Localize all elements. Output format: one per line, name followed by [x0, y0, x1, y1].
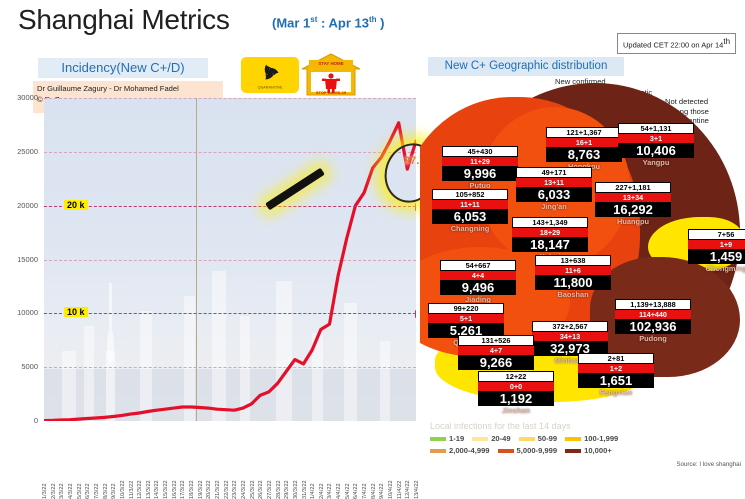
x-axis-tick: 23/3/22 [232, 480, 238, 499]
district-not-quarantined: 16+1 [546, 138, 622, 147]
district-not-quarantined: 11+29 [442, 157, 518, 166]
district-new-cases: 1,139+13,888 [615, 299, 691, 310]
x-axis-tick: 11/3/22 [129, 481, 135, 499]
x-axis-tick: 18/3/22 [189, 480, 195, 499]
x-axis-tick: 26/3/22 [258, 480, 264, 499]
x-axis-tick: 20/3/22 [206, 480, 212, 499]
x-axis-tick: 28/3/22 [276, 480, 282, 499]
legend-swatch [430, 437, 446, 441]
legend-item: 2,000-4,999 [430, 446, 490, 455]
district-total-14d: 9,266 [458, 355, 534, 370]
district-name: Huangpu [595, 217, 671, 226]
district-new-cases: 105+852 [432, 189, 508, 200]
district-new-cases: 121+1,367 [546, 127, 622, 138]
updated-timestamp: Updated CET 22:00 on Apr 14th [617, 33, 736, 54]
district-total-14d: 8,763 [546, 147, 622, 162]
district-not-quarantined: 13+34 [595, 193, 671, 202]
district-not-quarantined: 3+1 [618, 134, 694, 143]
district-new-cases: 227+1,181 [595, 182, 671, 193]
legend-swatch [430, 449, 446, 453]
district-total-14d: 6,033 [516, 187, 592, 202]
x-axis-tick: 9/3/22 [111, 483, 117, 499]
x-axis-tick: 12/3/22 [137, 480, 143, 499]
legend-label: 1-19 [449, 434, 464, 443]
district-not-quarantined: 1+9 [688, 240, 745, 249]
district-new-cases: 99+220 [428, 303, 504, 314]
incidence-line [44, 98, 416, 421]
legend-label: 10,000+ [584, 446, 612, 455]
district-new-cases: 13+638 [535, 255, 611, 266]
x-axis-tick: 21/3/22 [215, 480, 221, 499]
y-axis-tick: 5000 [0, 362, 38, 371]
district-not-quarantined: 1+2 [578, 364, 654, 373]
district-name: Fengxian [578, 388, 654, 397]
district-not-quarantined: 4+7 [458, 346, 534, 355]
district-stat-box: 7+561+91,459Chongming [688, 229, 745, 273]
threshold-arrow-icon [415, 310, 416, 318]
stay-home-bottom-caption: STOP COVID-19 [316, 90, 347, 95]
legend-label: 2,000-4,999 [449, 446, 490, 455]
biohazard-icon: QUARANTINE [241, 57, 299, 93]
district-total-14d: 1,192 [478, 391, 554, 406]
district-total-14d: 1,459 [688, 249, 745, 264]
legend-item: 20-49 [472, 434, 510, 443]
district-stat-box: 13+63811+611,800Baoshan [535, 255, 611, 299]
incidence-chart-panel: Incidency(New C+/D) Dr Guillaume Zagury … [0, 55, 420, 445]
y-axis-tick: 10000 [0, 308, 38, 317]
x-axis-tick: 4/3/22 [68, 483, 74, 499]
district-total-14d: 10,406 [618, 143, 694, 158]
x-axis-tick: 6/4/22 [353, 483, 359, 499]
x-axis-tick: 11/4/22 [397, 481, 403, 499]
x-axis-tick: 1/3/22 [42, 483, 48, 499]
geographic-distribution-panel: New C+ Geographic distribution New confi… [420, 55, 745, 445]
x-axis-tick: 13/4/22 [414, 480, 420, 499]
legend-swatch [565, 449, 581, 453]
district-name: Jinshan [478, 406, 554, 415]
district-name: Pudong [615, 334, 691, 343]
threshold-20k-label: 20 k [64, 200, 88, 210]
district-total-14d: 16,292 [595, 202, 671, 217]
x-axis-tick: 13/3/22 [146, 480, 152, 499]
y-axis-tick: 25000 [0, 147, 38, 156]
x-axis-tick: 31/3/22 [302, 480, 308, 499]
x-axis-tick: 9/4/22 [379, 483, 385, 499]
legend-swatch [472, 437, 488, 441]
district-total-14d: 6,053 [432, 209, 508, 224]
x-axis-tick: 1/4/22 [310, 483, 316, 499]
threshold-20k-line: 20 k [44, 206, 416, 207]
shanghai-map: 121+1,36716+18,763Hongkou54+1,1313+110,4… [420, 77, 745, 417]
legend-swatch [498, 449, 514, 453]
threshold-arrow-icon [415, 203, 416, 211]
x-axis-tick: 22/3/22 [224, 480, 230, 499]
legend-row: 1-1920-4950-99100-1,999 [430, 434, 745, 443]
district-new-cases: 143+1,349 [512, 217, 588, 228]
district-name: Baoshan [535, 290, 611, 299]
district-not-quarantined: 4+4 [440, 271, 516, 280]
district-total-14d: 9,996 [442, 166, 518, 181]
district-stat-box: 12+220+01,192Jinshan [478, 371, 554, 415]
district-not-quarantined: 114+440 [615, 310, 691, 319]
district-name: Jing'an [516, 202, 592, 211]
district-not-quarantined: 5+1 [428, 314, 504, 323]
y-axis-tick: 0 [0, 416, 38, 425]
x-axis-tick: 15/3/22 [163, 480, 169, 499]
threshold-10k-label: 10 k [64, 307, 88, 317]
infographic-root: Shanghai Metrics (Mar 1st : Apr 13th ) U… [0, 0, 745, 445]
district-stat-box: 2+811+21,651Fengxian [578, 353, 654, 397]
x-axis-tick: 16/3/22 [172, 480, 178, 499]
x-axis-tick: 14/3/22 [154, 480, 160, 499]
y-axis-tick: 15000 [0, 255, 38, 264]
legend-row: 2,000-4,9995,000-9,99910,000+ [430, 446, 745, 455]
x-axis-tick: 19/3/22 [198, 480, 204, 499]
district-not-quarantined: 34+13 [532, 332, 608, 341]
legend-item: 10,000+ [565, 446, 612, 455]
map-title: New C+ Geographic distribution [428, 57, 624, 76]
district-new-cases: 45+430 [442, 146, 518, 157]
district-name: Changning [432, 224, 508, 233]
y-axis-tick: 30000 [0, 93, 38, 102]
district-new-cases: 7+56 [688, 229, 745, 240]
x-axis-tick: 10/3/22 [120, 480, 126, 499]
legend-swatch [519, 437, 535, 441]
x-axis-tick: 2/3/22 [51, 483, 57, 499]
district-new-cases: 131+526 [458, 335, 534, 346]
x-axis-tick: 25/3/22 [250, 480, 256, 499]
x-axis-tick: 6/3/22 [85, 483, 91, 499]
page-date-range: (Mar 1st : Apr 13th ) [272, 15, 384, 30]
district-total-14d: 11,800 [535, 275, 611, 290]
threshold-10k-line: 10 k [44, 313, 416, 314]
legend-swatch [565, 437, 581, 441]
legend-item: 5,000-9,999 [498, 446, 558, 455]
x-axis-tick: 7/3/22 [94, 483, 100, 499]
credit-authors: Dr Guillaume Zagury - Dr Mohamed Fadel [37, 83, 219, 94]
map-source: Source: I love shanghai [676, 461, 741, 468]
x-axis-tick: 29/3/22 [284, 480, 290, 499]
legend-label: 20-49 [491, 434, 510, 443]
x-axis-tick: 8/4/22 [371, 483, 377, 499]
district-new-cases: 2+81 [578, 353, 654, 364]
district-name: Chongming [688, 264, 745, 273]
y-axis-tick: 20000 [0, 201, 38, 210]
legend-item: 50-99 [519, 434, 557, 443]
district-new-cases: 54+1,131 [618, 123, 694, 134]
map-legend: Local infections for the last 14 days 1-… [430, 421, 745, 458]
district-stat-box: 54+1,1313+110,406Yangpu [618, 123, 694, 167]
x-axis-tick: 10/4/22 [388, 480, 394, 499]
stay-home-top-caption: STAY HOME [318, 61, 343, 66]
district-new-cases: 12+22 [478, 371, 554, 382]
district-not-quarantined: 13+11 [516, 178, 592, 187]
x-axis-tick: 2/4/22 [319, 483, 325, 499]
stay-home-icon: STAY HOME STOP COVID-19 [300, 52, 362, 96]
district-not-quarantined: 11+6 [535, 266, 611, 275]
district-stat-box: 227+1,18113+3416,292Huangpu [595, 182, 671, 226]
district-stat-box: 49+17113+116,033Jing'an [516, 167, 592, 211]
x-axis-tick: 5/4/22 [345, 483, 351, 499]
chart-plot-area: 20 k 10 k [44, 98, 416, 421]
x-axis-tick: 3/3/22 [59, 483, 65, 499]
district-stat-box: 45+43011+299,996Putuo [442, 146, 518, 190]
x-axis-tick: 3/4/22 [327, 483, 333, 499]
district-stat-box: 1,139+13,888114+440102,936Pudong [615, 299, 691, 343]
x-axis-tick: 5/3/22 [77, 483, 83, 499]
district-stat-box: 105+85211+116,053Changning [432, 189, 508, 233]
x-axis-tick: 4/4/22 [336, 483, 342, 499]
x-axis-tick: 7/4/22 [362, 483, 368, 499]
legend-label: 100-1,999 [584, 434, 618, 443]
district-total-14d: 9,496 [440, 280, 516, 295]
x-axis-date-labels: 1/3/222/3/223/3/224/3/225/3/226/3/227/3/… [44, 421, 416, 499]
page-title: Shanghai Metrics [18, 4, 230, 36]
x-axis-tick: 8/3/22 [103, 483, 109, 499]
district-new-cases: 49+171 [516, 167, 592, 178]
x-axis-tick: 27/3/22 [267, 480, 273, 499]
district-stat-box: 54+6674+49,496Jiading [440, 260, 516, 304]
legend-label: 5,000-9,999 [517, 446, 558, 455]
district-not-quarantined: 11+11 [432, 200, 508, 209]
quarantine-caption: QUARANTINE [258, 86, 283, 90]
district-not-quarantined: 18+29 [512, 228, 588, 237]
district-total-14d: 18,147 [512, 237, 588, 252]
district-new-cases: 54+667 [440, 260, 516, 271]
legend-label: 50-99 [538, 434, 557, 443]
legend-item: 100-1,999 [565, 434, 618, 443]
district-new-cases: 372+2,567 [532, 321, 608, 332]
district-total-14d: 102,936 [615, 319, 691, 334]
district-total-14d: 1,651 [578, 373, 654, 388]
x-axis-tick: 12/4/22 [405, 480, 411, 499]
district-stat-box: 121+1,36716+18,763Hongkou [546, 127, 622, 171]
district-not-quarantined: 0+0 [478, 382, 554, 391]
x-axis-tick: 24/3/22 [241, 480, 247, 499]
legend-item: 1-19 [430, 434, 464, 443]
chart-title: Incidency(New C+/D) [38, 58, 208, 78]
district-name: Yangpu [618, 158, 694, 167]
x-axis-tick: 30/3/22 [293, 480, 299, 499]
legend-title: Local infections for the last 14 days [430, 421, 745, 431]
x-axis-tick: 17/3/22 [180, 480, 186, 499]
